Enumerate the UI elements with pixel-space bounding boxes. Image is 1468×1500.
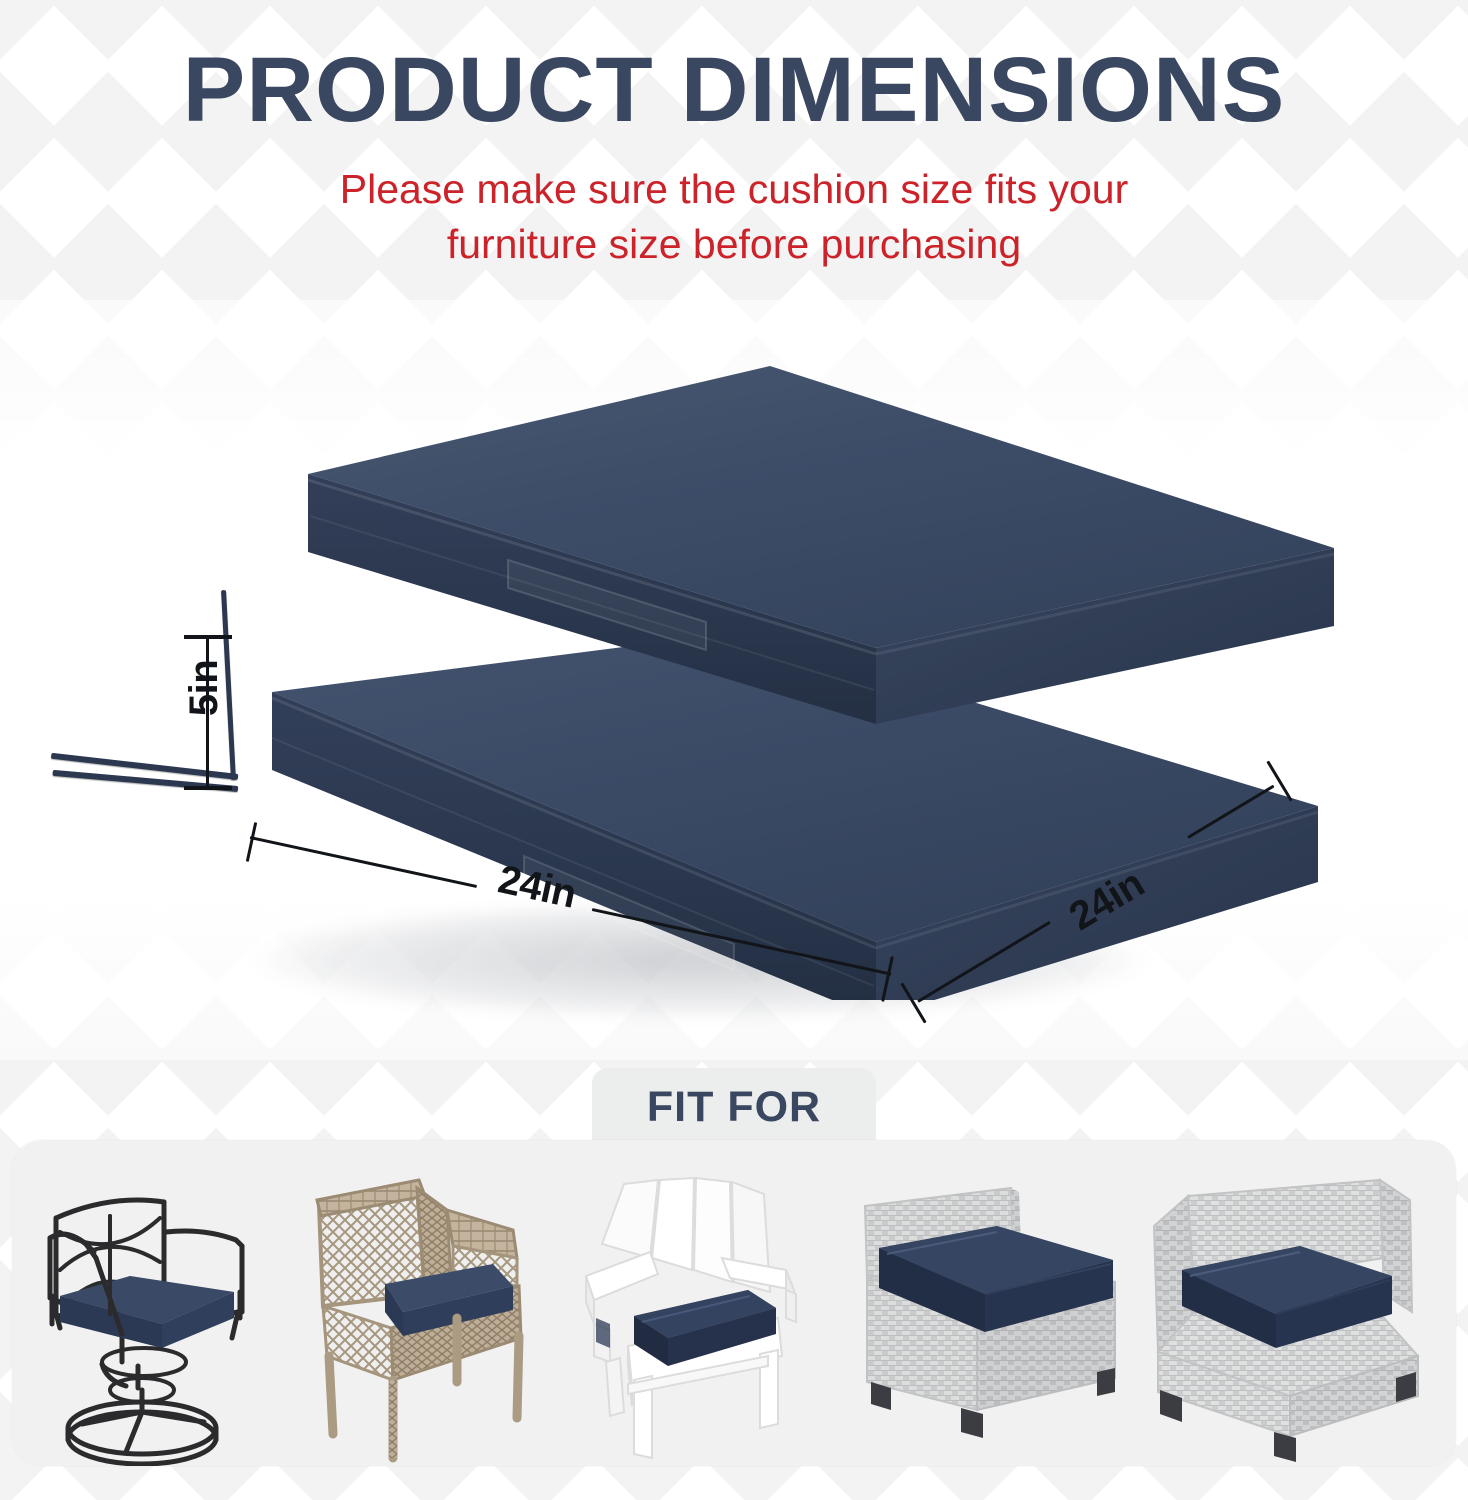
cushion-top-shape [276, 360, 1376, 760]
armless-sectional-sofa-icon [847, 1166, 1127, 1466]
adirondack-chair-icon [572, 1166, 832, 1466]
fit-for-item-metal-swivel-chair[interactable] [26, 1166, 282, 1466]
fit-for-item-corner-sectional-sofa[interactable] [1142, 1166, 1442, 1466]
corner-sectional-sofa-icon [1142, 1166, 1442, 1466]
fit-for-section: FIT FOR [0, 1068, 1468, 1500]
fit-for-label: FIT FOR [647, 1083, 821, 1132]
fit-for-item-armless-sectional-sofa[interactable] [847, 1166, 1127, 1466]
fit-for-item-adirondack-chair[interactable] [572, 1166, 832, 1466]
wicker-dining-chair-icon [297, 1166, 557, 1466]
fit-for-item-list [12, 1140, 1456, 1466]
dimension-height-label: 5in [182, 660, 227, 716]
page-title: PRODUCT DIMENSIONS [0, 0, 1468, 136]
metal-swivel-chair-icon [26, 1166, 282, 1466]
fit-for-badge: FIT FOR [592, 1068, 876, 1146]
page-subtitle: Please make sure the cushion size fits y… [274, 162, 1194, 273]
product-dimension-illustration: 5in 24in 24in [0, 300, 1468, 1060]
fit-for-item-wicker-dining-chair[interactable] [297, 1166, 557, 1466]
cushion-top [276, 360, 1336, 720]
header: PRODUCT DIMENSIONS Please make sure the … [0, 0, 1468, 290]
